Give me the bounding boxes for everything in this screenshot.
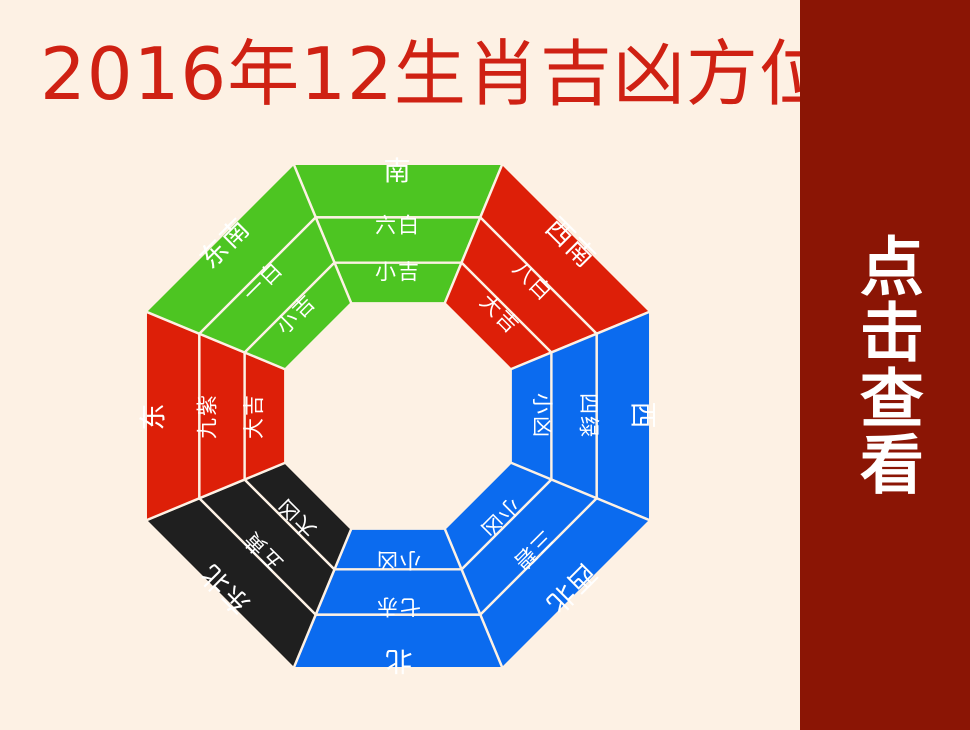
sector-label-东-star: 九紫 [196,393,220,439]
sector-label-南-direction: 南 [384,157,413,188]
page-title: 2016年12生肖吉凶方位 [40,28,780,120]
sector-label-西-luck: 小凶 [530,393,554,439]
octagon-center-hole [285,303,510,528]
sector-label-东-luck: 大吉 [242,393,266,439]
sidebar-banner[interactable]: 点击查看 [800,0,970,730]
sector-label-南-star: 六白 [375,214,421,238]
page-root: 2016年12生肖吉凶方位 南六白小吉西南八白大吉西四绿小凶西北三碧小凶北七赤小… [0,0,970,730]
sector-label-南-luck: 小吉 [375,260,421,284]
bagua-octagon-diagram: 南六白小吉西南八白大吉西四绿小凶西北三碧小凶北七赤小凶东北五黄大凶东九紫大吉东南… [125,138,671,694]
sector-label-北-luck: 小凶 [375,548,421,572]
octagon-chart-svg: 南六白小吉西南八白大吉西四绿小凶西北三碧小凶北七赤小凶东北五黄大凶东九紫大吉东南… [125,138,671,694]
sidebar-cta-label[interactable]: 点击查看 [800,0,970,730]
sector-label-西-direction: 西 [627,402,658,431]
sector-label-西-star: 四绿 [577,393,601,439]
sector-label-北-star: 七赤 [375,595,421,619]
sector-label-东-direction: 东 [139,402,170,431]
sector-label-北-direction: 北 [384,645,413,676]
